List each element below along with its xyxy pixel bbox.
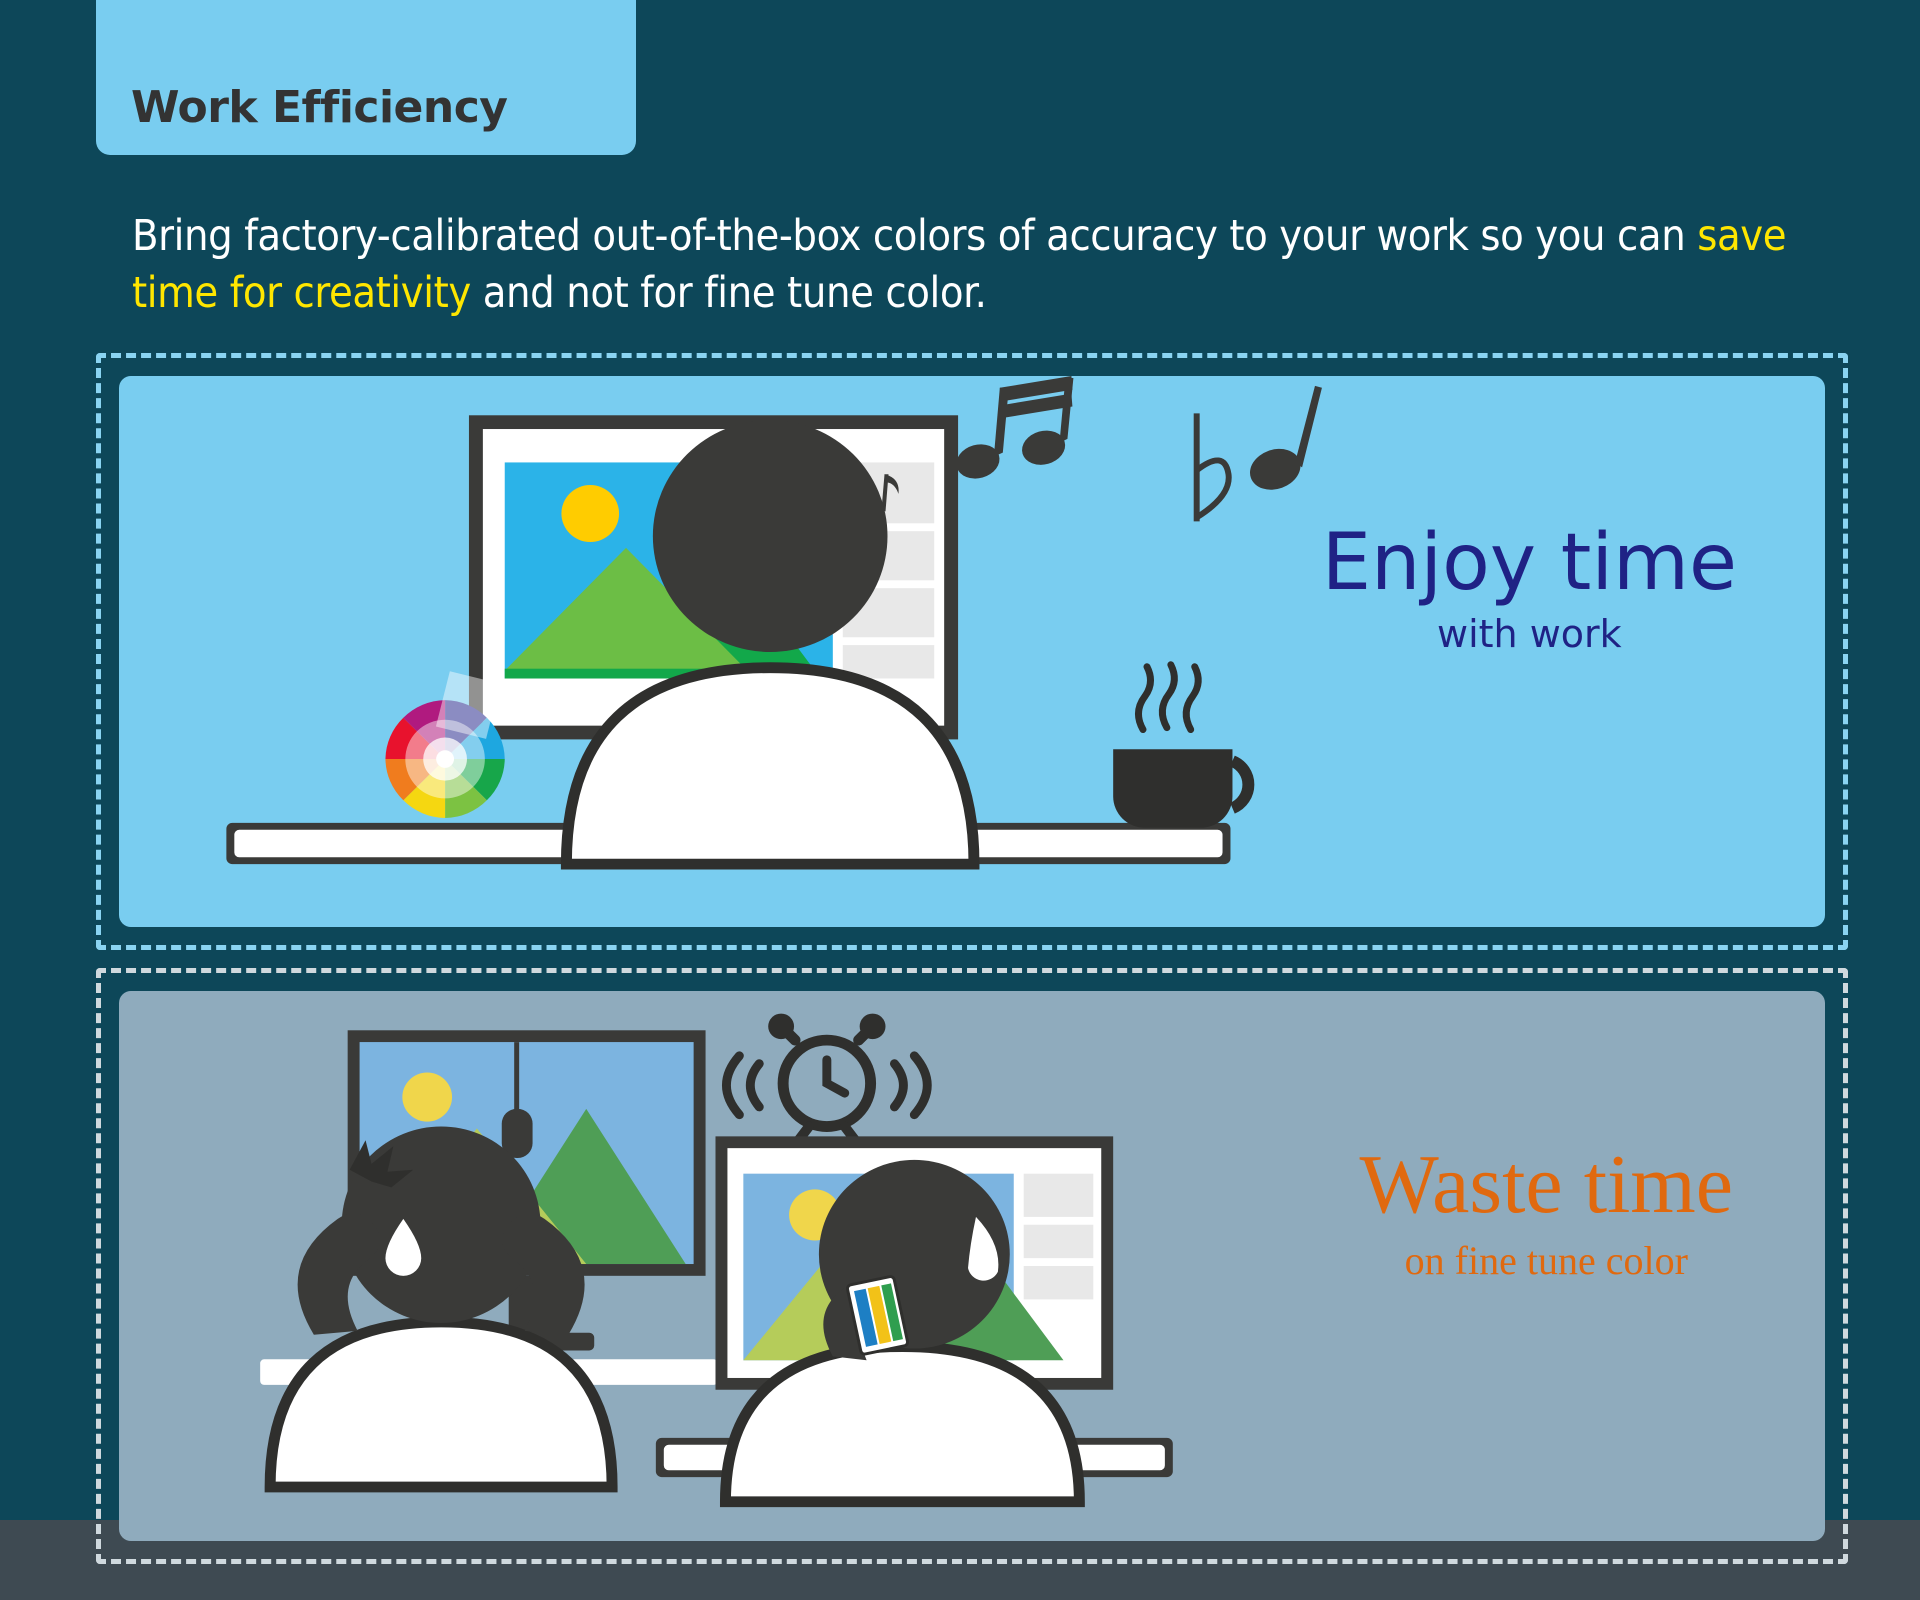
- intro-text-part2: and not for fine tune color.: [471, 268, 987, 318]
- coffee-cup-icon: [1113, 665, 1248, 828]
- sun-icon: [402, 1073, 452, 1122]
- music-note-quarter-icon: [1244, 386, 1322, 497]
- waste-title: Waste time: [1360, 1143, 1733, 1227]
- waste-subtitle: on fine tune color: [1360, 1235, 1733, 1287]
- music-note-beamed-icon: [952, 376, 1073, 483]
- panel-enjoy-frame: Enjoy time with work: [96, 353, 1848, 950]
- sun-icon: [561, 485, 619, 542]
- panel-waste-frame: Waste time on fine tune color: [96, 968, 1848, 1564]
- intro-text-part1: Bring factory-calibrated out-of-the-box …: [132, 211, 1697, 261]
- intro-paragraph: Bring factory-calibrated out-of-the-box …: [132, 208, 1832, 322]
- enjoy-caption: Enjoy time with work: [1322, 524, 1737, 659]
- infographic-root: Work Efficiency Bring factory-calibrated…: [0, 0, 1920, 1600]
- alarm-clock-icon: [726, 1014, 927, 1143]
- waste-caption: Waste time on fine tune color: [1360, 1143, 1733, 1287]
- music-flat-icon: [1197, 413, 1229, 521]
- section-badge: Work Efficiency: [96, 0, 636, 155]
- color-wheel-icon: [385, 671, 504, 818]
- panel-waste: Waste time on fine tune color: [119, 991, 1825, 1541]
- enjoy-title: Enjoy time: [1322, 524, 1737, 602]
- enjoy-subtitle: with work: [1322, 610, 1737, 659]
- page-title: Work Efficiency: [96, 82, 508, 155]
- steam-icon: [1138, 665, 1198, 730]
- panel-enjoy: Enjoy time with work: [119, 376, 1825, 927]
